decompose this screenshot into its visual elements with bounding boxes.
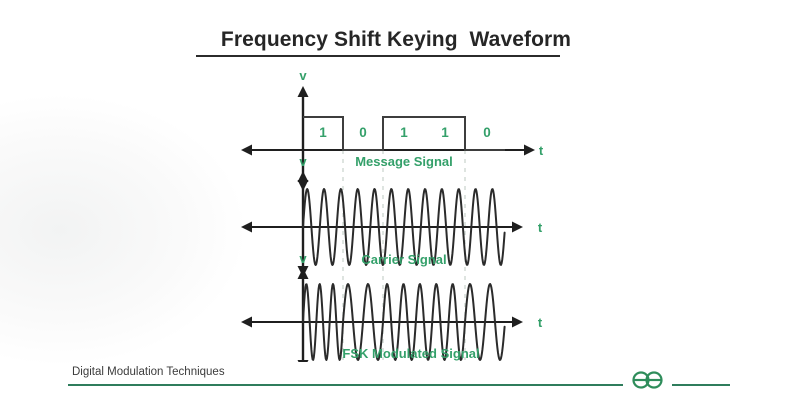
carrier-signal-caption: Carrier Signal [361,252,446,267]
carrier-time-axis-arrow-left [241,222,252,233]
message-bit-3: 1 [441,125,449,140]
message-t-label: t [539,143,544,158]
fsk-v-label: v [299,251,307,266]
message-bit-1: 0 [359,125,367,140]
message-bit-2: 1 [400,125,408,140]
slide-canvas: Frequency Shift Keying Waveform [0,0,792,408]
fsk-signal-caption: FSK Modulated Signal [342,346,479,361]
panel-message-signal: 1 0 1 1 0 v t Message Signal [241,72,544,191]
footer-rule-right [672,384,730,386]
panel-fsk-signal: v t FSK Modulated Signal [241,251,543,362]
fsk-waveform-figure: 1 0 1 1 0 v t Message Signal [0,72,792,362]
message-time-axis-arrow [524,145,535,156]
page-title: Frequency Shift Keying Waveform [0,28,792,52]
message-bit-0: 1 [319,125,327,140]
fsk-time-axis-arrow [512,317,523,328]
message-signal-caption: Message Signal [355,154,453,169]
carrier-time-axis-arrow [512,222,523,233]
message-bit-4: 0 [483,125,491,140]
carrier-amplitude-axis-arrow-up [298,171,309,182]
fsk-t-label: t [538,315,543,330]
footer-caption: Digital Modulation Techniques [72,366,225,378]
fsk-time-axis-arrow-left [241,317,252,328]
message-amplitude-axis-arrow-up [298,86,309,97]
panel-carrier-signal: v t Carrier Signal [241,154,543,277]
slide-footer: Digital Modulation Techniques [0,362,792,408]
message-v-label: v [299,72,307,83]
fsk-amplitude-axis-arrow-up [298,268,309,279]
footer-rule-left [68,384,623,386]
carrier-t-label: t [538,220,543,235]
carrier-v-label: v [299,154,307,169]
geeksforgeeks-logo-icon [628,368,668,392]
message-time-axis-arrow-left [241,145,252,156]
title-underline [196,55,560,57]
